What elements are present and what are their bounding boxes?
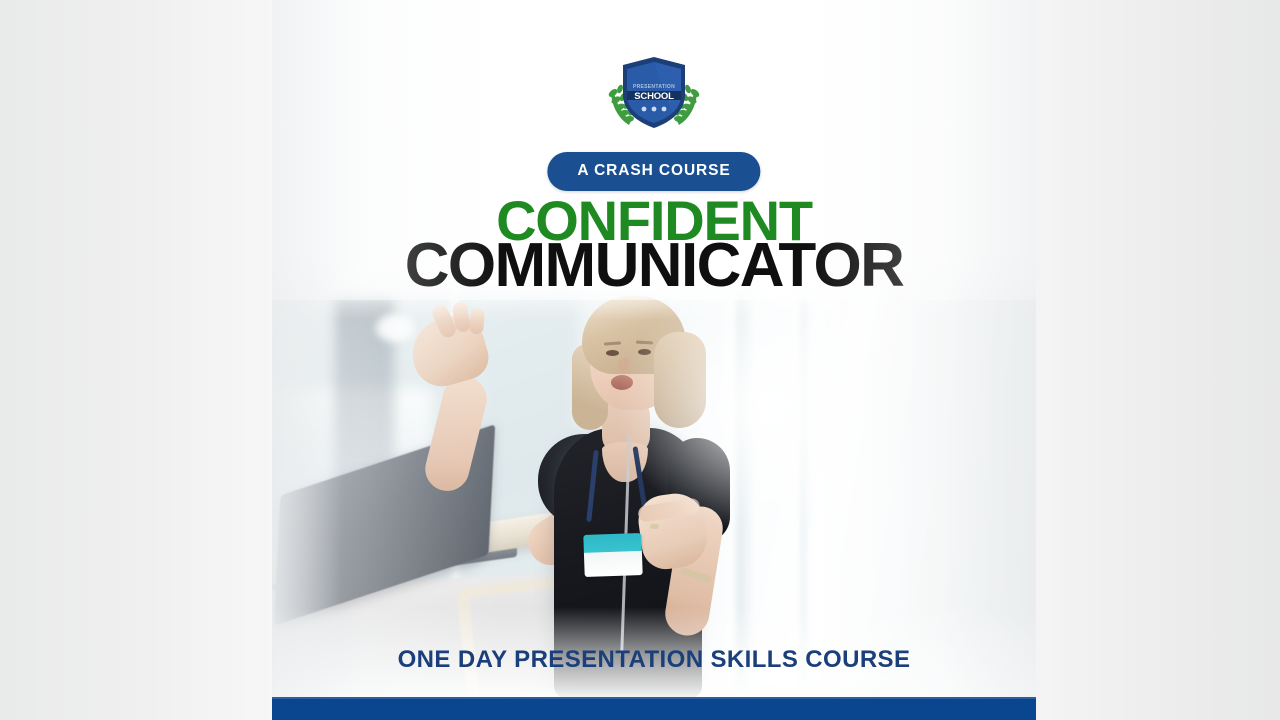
headline-communicator: COMMUNICATOR bbox=[272, 235, 1036, 297]
footer-bar bbox=[272, 697, 1036, 720]
presenter-photo bbox=[272, 256, 1036, 697]
raised-forearm bbox=[421, 372, 492, 495]
logo-text-line2: SCHOOL bbox=[634, 91, 674, 102]
screenshot-canvas: PRESENTATION SCHOOL A CRASH COURSE CONFI… bbox=[0, 0, 1280, 720]
footer-bar-highlight bbox=[272, 697, 1036, 699]
shield-logo-svg: PRESENTATION SCHOOL bbox=[599, 55, 709, 133]
conference-badge bbox=[583, 533, 642, 577]
course-poster: PRESENTATION SCHOOL A CRASH COURSE CONFI… bbox=[272, 0, 1036, 720]
shield-dots-icon bbox=[642, 107, 667, 112]
poster-header: PRESENTATION SCHOOL A CRASH COURSE CONFI… bbox=[272, 0, 1036, 300]
logo-text-line1: PRESENTATION bbox=[633, 84, 675, 90]
presentation-school-shield-icon: PRESENTATION SCHOOL bbox=[599, 55, 709, 133]
course-subtitle: ONE DAY PRESENTATION SKILLS COURSE bbox=[272, 648, 1036, 672]
crash-course-badge[interactable]: A CRASH COURSE bbox=[547, 152, 760, 191]
